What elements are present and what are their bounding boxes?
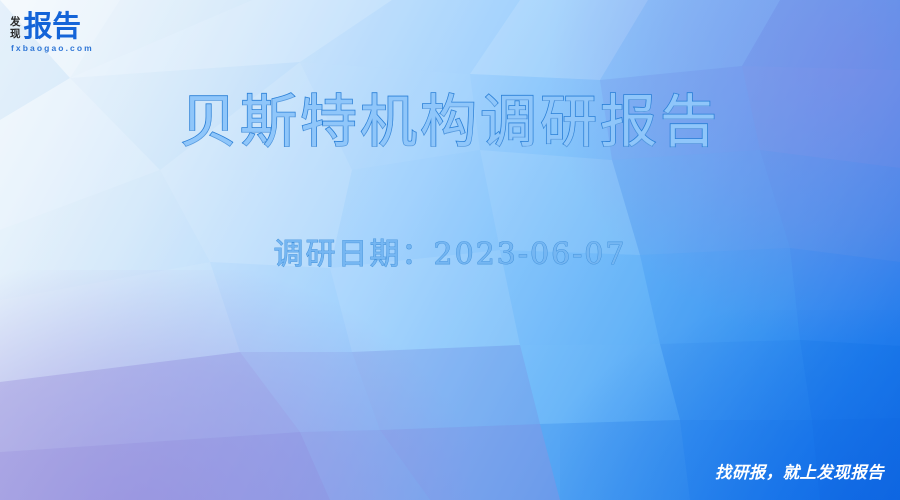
background-facet (800, 340, 900, 420)
footer-slogan: 找研报，就上发现报告 (715, 459, 884, 483)
logo-mark-stack: 发 现 (10, 17, 21, 41)
survey-date-subtitle: 调研日期：2023-06-07 (0, 235, 900, 275)
logo-wordmark-row: 发 现 报告 (10, 9, 130, 41)
brand-logo[interactable]: 发 现 报告 fxbaogao.com (10, 9, 130, 55)
background-facet (540, 420, 690, 500)
background-facet (352, 345, 540, 430)
logo-wordmark: 报告 (24, 12, 81, 41)
logo-mark-bottom-char: 现 (10, 29, 21, 41)
logo-mark-top-char: 发 (10, 17, 21, 29)
page-title: 贝斯特机构调研报告 (0, 87, 900, 157)
background-facet (520, 344, 680, 424)
report-cover: 发 现 报告 fxbaogao.com 贝斯特机构调研报告 调研日期：2023-… (0, 0, 900, 500)
background-facet (660, 340, 812, 420)
logo-url: fxbaogao.com (10, 43, 130, 53)
